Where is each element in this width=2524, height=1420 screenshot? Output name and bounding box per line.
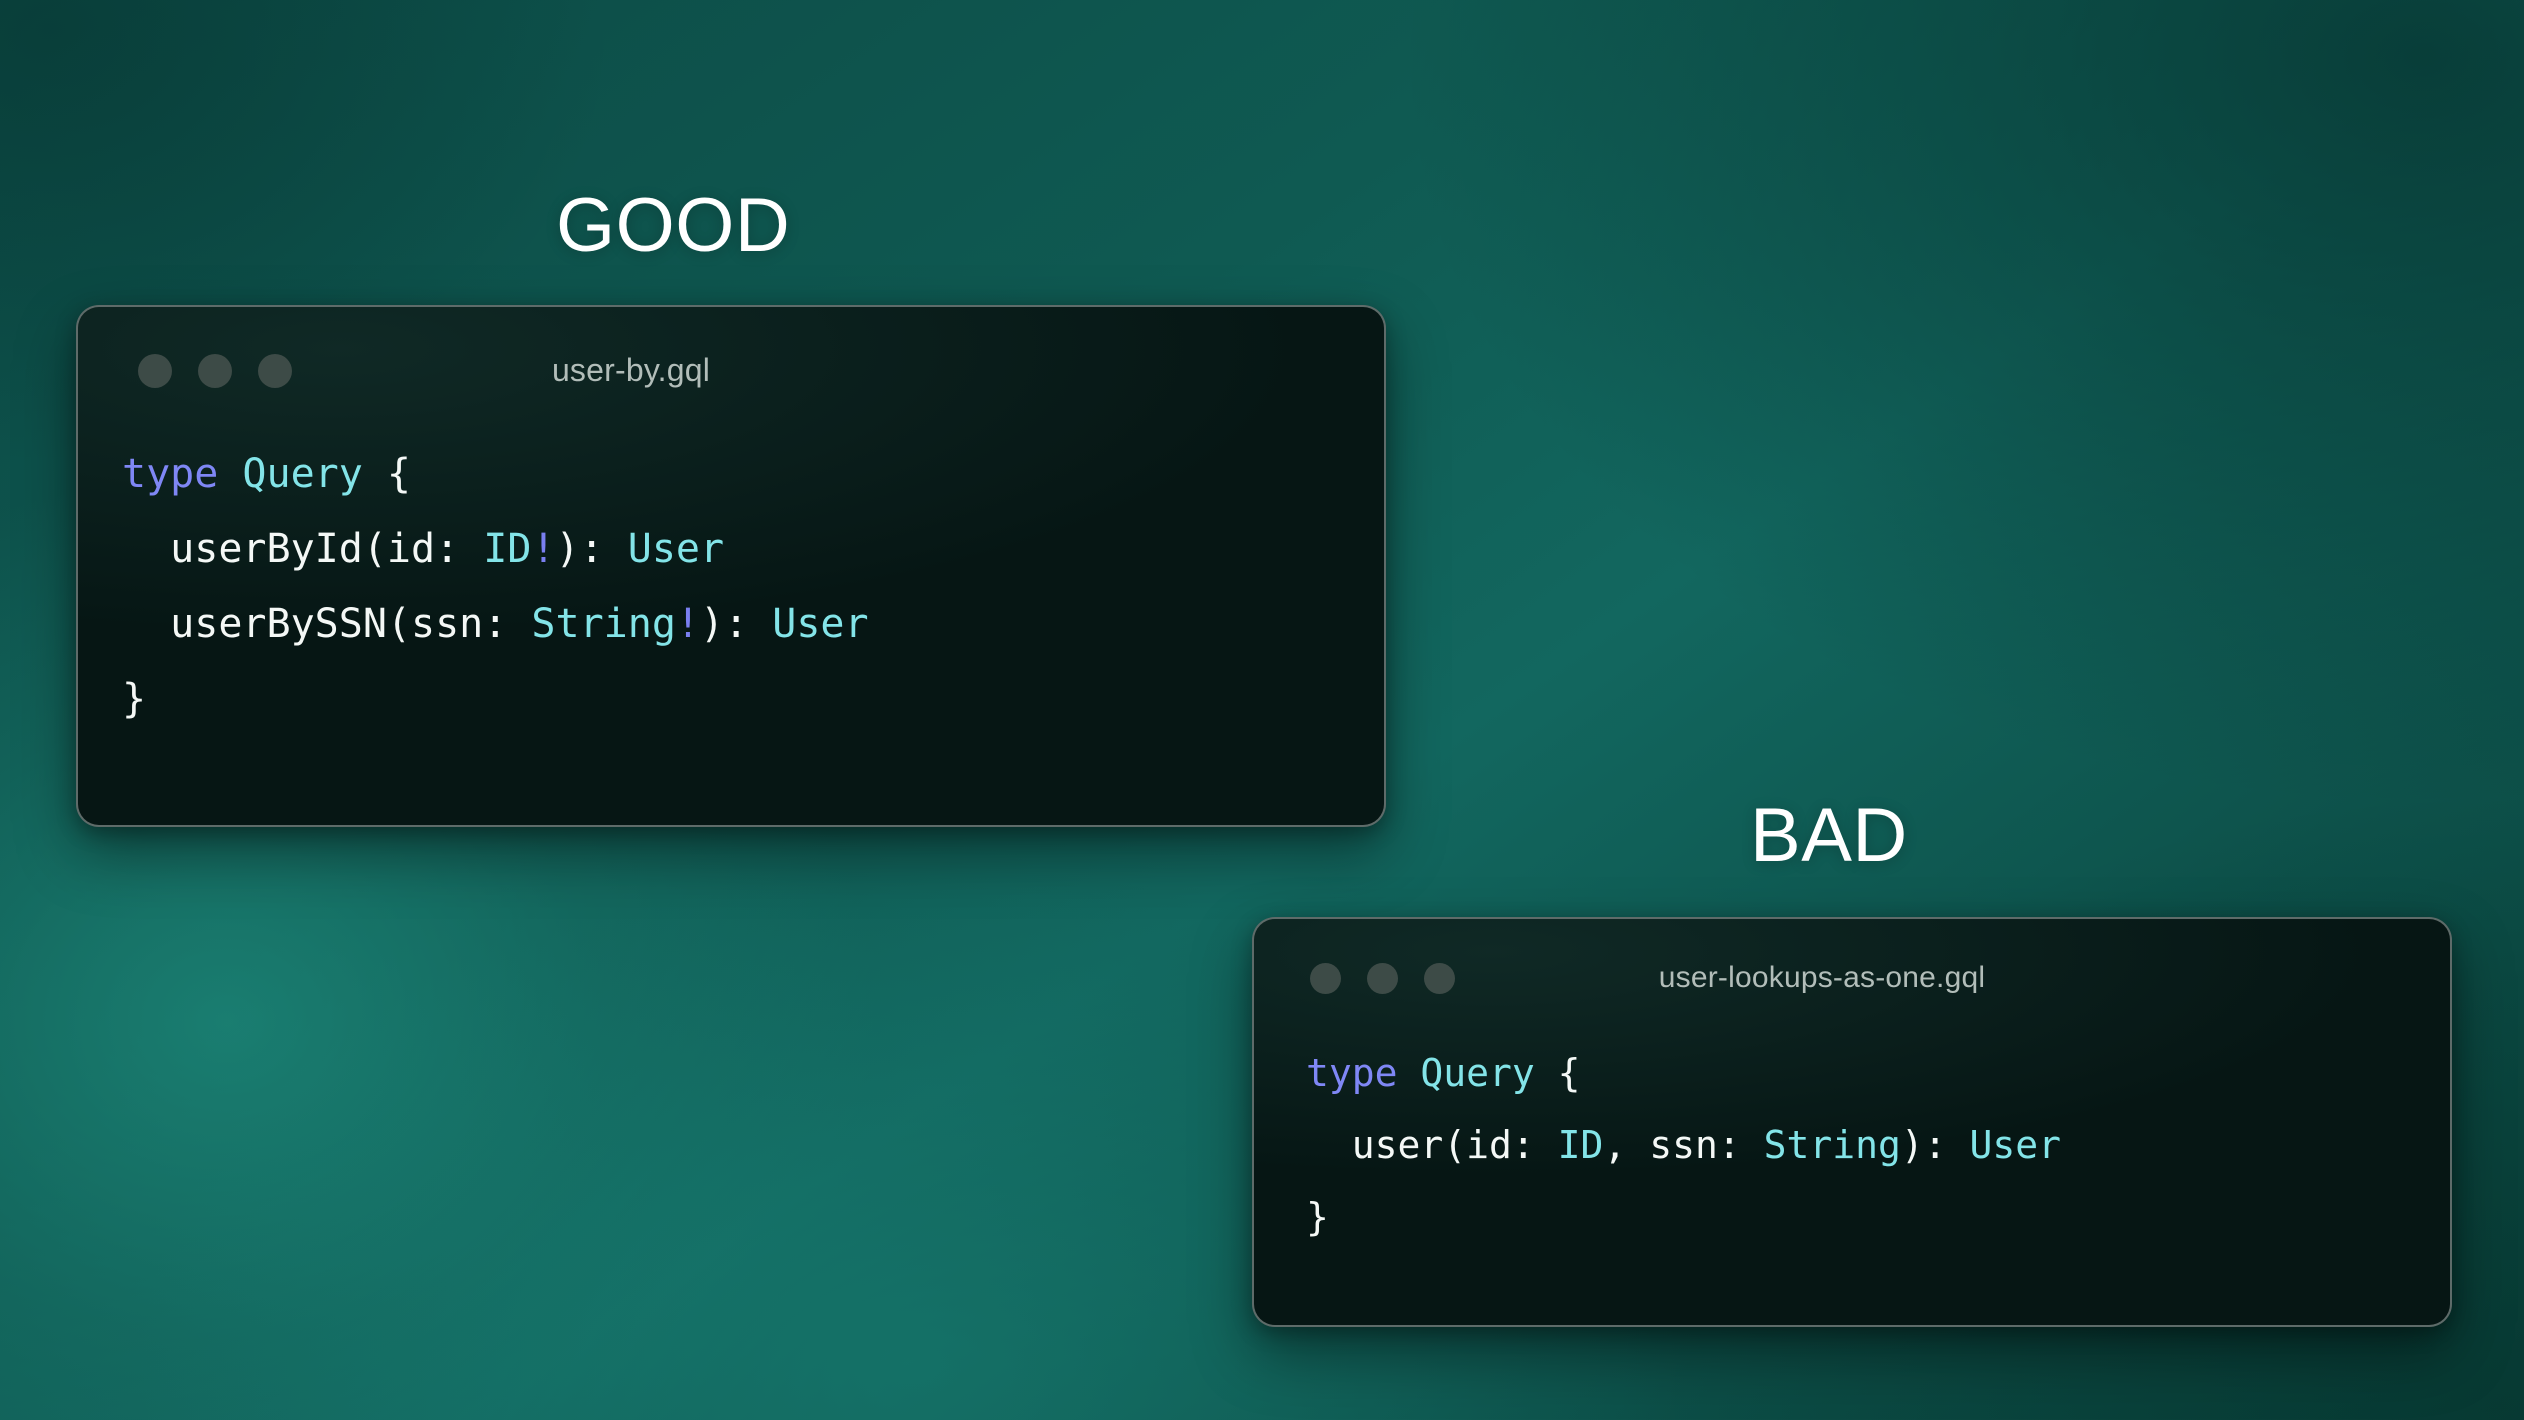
filename-label-good: user-by.gql xyxy=(78,352,1384,389)
code-token: User xyxy=(1970,1123,2062,1167)
code-token: userBySSN(ssn: xyxy=(122,601,531,647)
code-token: Query xyxy=(242,451,362,497)
code-block-bad: type Query { user(id: ID, ssn: String): … xyxy=(1306,1037,2061,1253)
code-token: , ssn: xyxy=(1603,1123,1763,1167)
code-token: String xyxy=(1764,1123,1901,1167)
code-token: } xyxy=(1306,1195,1329,1239)
filename-label-bad: user-lookups-as-one.gql xyxy=(1254,961,2450,995)
code-token: ID xyxy=(1558,1123,1604,1167)
code-token: User xyxy=(628,526,724,572)
code-token: User xyxy=(772,601,868,647)
code-token: ! xyxy=(531,526,555,572)
code-window-good: user-by.gql type Query { userById(id: ID… xyxy=(76,305,1386,827)
code-token: Query xyxy=(1420,1051,1534,1095)
code-token: type xyxy=(122,451,218,497)
code-token: ID xyxy=(483,526,531,572)
caption-good: GOOD xyxy=(556,188,790,264)
code-token: user(id: xyxy=(1306,1123,1558,1167)
code-token: ! xyxy=(676,601,700,647)
code-token: String xyxy=(531,601,676,647)
code-token: } xyxy=(122,676,146,722)
code-token: { xyxy=(1535,1051,1581,1095)
code-token: { xyxy=(363,451,411,497)
code-token: type xyxy=(1306,1051,1398,1095)
code-token: userById(id: xyxy=(122,526,483,572)
code-token: ): xyxy=(1901,1123,1970,1167)
code-token xyxy=(218,451,242,497)
code-block-good: type Query { userById(id: ID!): User use… xyxy=(122,437,869,737)
code-token: ): xyxy=(700,601,772,647)
code-token xyxy=(1398,1051,1421,1095)
code-window-bad: user-lookups-as-one.gql type Query { use… xyxy=(1252,917,2452,1327)
code-token: ): xyxy=(556,526,628,572)
caption-bad: BAD xyxy=(1750,798,1908,874)
